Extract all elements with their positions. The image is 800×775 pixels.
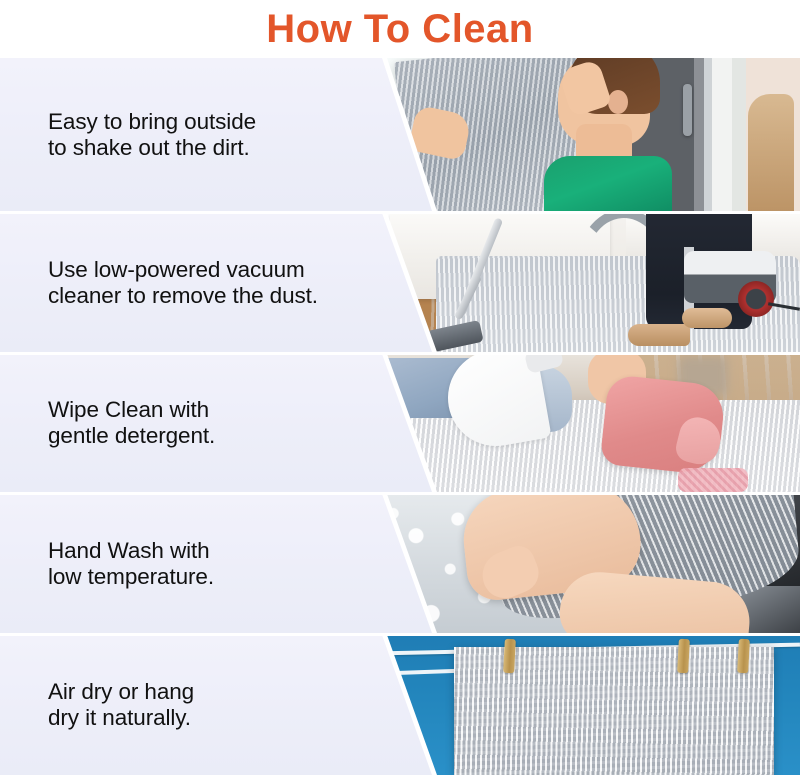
person-ear [608, 90, 628, 114]
step-caption-4: Hand Wash with low temperature. [48, 537, 378, 589]
step-caption-3: Wipe Clean with gentle detergent. [48, 397, 378, 449]
step-photo-3 [378, 354, 800, 492]
step-row-5: Air dry or hang dry it naturally. [0, 635, 800, 775]
vacuum-wheel [738, 281, 774, 317]
scene-hand-wash [378, 494, 800, 633]
row-divider-2 [0, 352, 800, 355]
row-divider-4 [0, 633, 800, 636]
step-caption-1: Easy to bring outside to shake out the d… [48, 108, 378, 160]
step-caption-5: Air dry or hang dry it naturally. [48, 679, 378, 731]
title-bar: How To Clean [0, 0, 800, 58]
scene-vacuum-rug [378, 213, 800, 352]
step-row-2: Use low-powered vacuum cleaner to remove… [0, 213, 800, 352]
scene-wipe-clean [378, 354, 800, 492]
step-photo-1 [378, 58, 800, 211]
clothespin-2 [677, 639, 690, 674]
page-title: How To Clean [266, 9, 533, 49]
clothespin-3 [737, 639, 750, 674]
steps-list: Easy to bring outside to shake out the d… [0, 58, 800, 775]
step-row-4: Hand Wash with low temperature. [0, 494, 800, 633]
how-to-clean-infographic: How To Clean Easy to bring outside to sh… [0, 0, 800, 775]
green-tshirt [544, 156, 672, 211]
row-divider-3 [0, 492, 800, 495]
clothespin-1 [503, 639, 516, 674]
step-row-1: Easy to bring outside to shake out the d… [0, 58, 800, 211]
row-divider-1 [0, 211, 800, 214]
door-handle [683, 84, 692, 136]
step-photo-2 [378, 213, 800, 352]
shoe-right [682, 308, 732, 328]
scene-air-dry [378, 635, 800, 775]
shoe-left [628, 324, 690, 346]
step-row-3: Wipe Clean with gentle detergent. [0, 354, 800, 492]
hanging-gray-rug [454, 647, 774, 775]
step-photo-4 [378, 494, 800, 633]
step-photo-5 [378, 635, 800, 775]
scene-shake-out-rug [378, 58, 800, 211]
step-caption-2: Use low-powered vacuum cleaner to remove… [48, 256, 378, 308]
background-hair [748, 94, 794, 211]
cleaning-cloth [678, 468, 748, 492]
